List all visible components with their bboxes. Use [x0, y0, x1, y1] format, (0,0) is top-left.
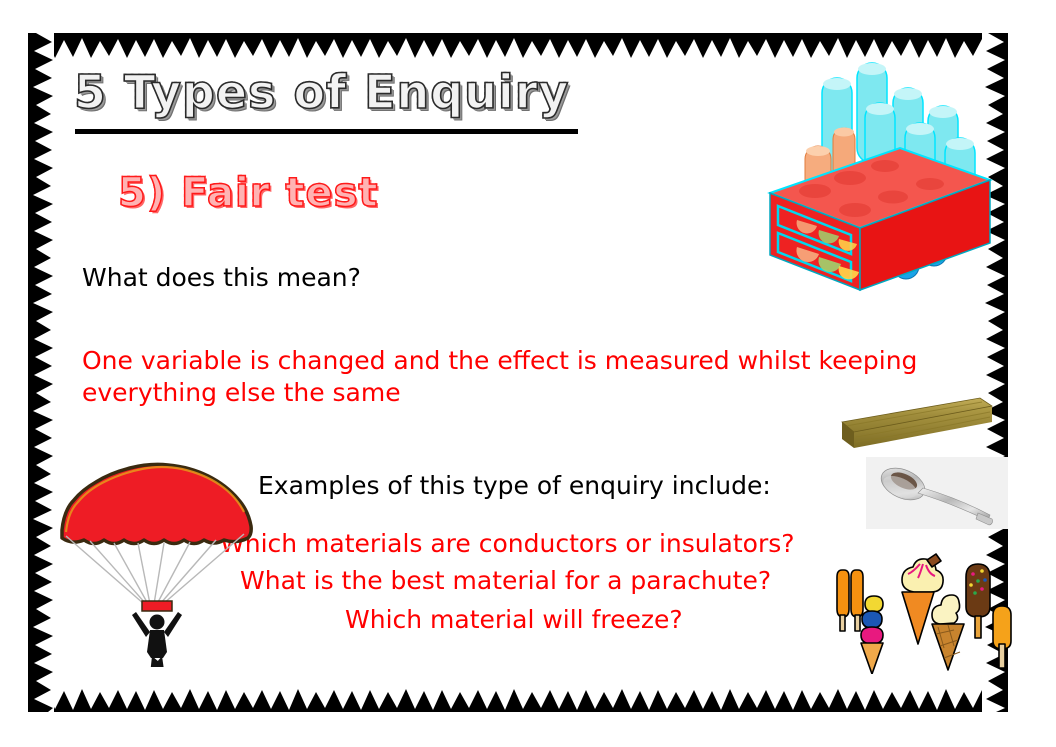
parachute-image — [58, 452, 268, 667]
test-tube-rack-image — [745, 58, 1015, 308]
example-item-2: What is the best material for a parachut… — [240, 565, 771, 597]
zigzag-pattern-top — [28, 33, 1008, 59]
zigzag-pattern-bottom — [28, 686, 1008, 712]
test-tube-rack-illustration — [745, 58, 1015, 308]
slide-canvas: 5 Types of Enquiry 5) Fair test What doe… — [0, 0, 1056, 747]
wood-block-illustration — [822, 396, 997, 456]
examples-heading: Examples of this type of enquiry include… — [258, 470, 771, 502]
wood-block-image — [822, 396, 997, 456]
page-title: 5 Types of Enquiry — [74, 68, 569, 116]
border-bottom — [28, 686, 1008, 712]
spoon-illustration — [866, 457, 1008, 529]
ice-creams-illustration — [832, 552, 1014, 674]
subtitle-heading: 5) Fair test — [118, 170, 379, 216]
page-title-wrapper: 5 Types of Enquiry — [74, 68, 569, 116]
example-item-3: Which material will freeze? — [345, 604, 683, 636]
spoon-image — [866, 457, 1008, 529]
ice-creams-image — [832, 552, 1014, 674]
parachute-illustration — [58, 452, 268, 667]
example-item-1: Which materials are conductors or insula… — [220, 528, 795, 560]
question-prompt: What does this mean? — [82, 262, 361, 294]
border-top — [28, 33, 1008, 59]
border-left — [28, 33, 54, 712]
title-underline — [75, 129, 578, 134]
zigzag-pattern-left — [28, 33, 54, 712]
